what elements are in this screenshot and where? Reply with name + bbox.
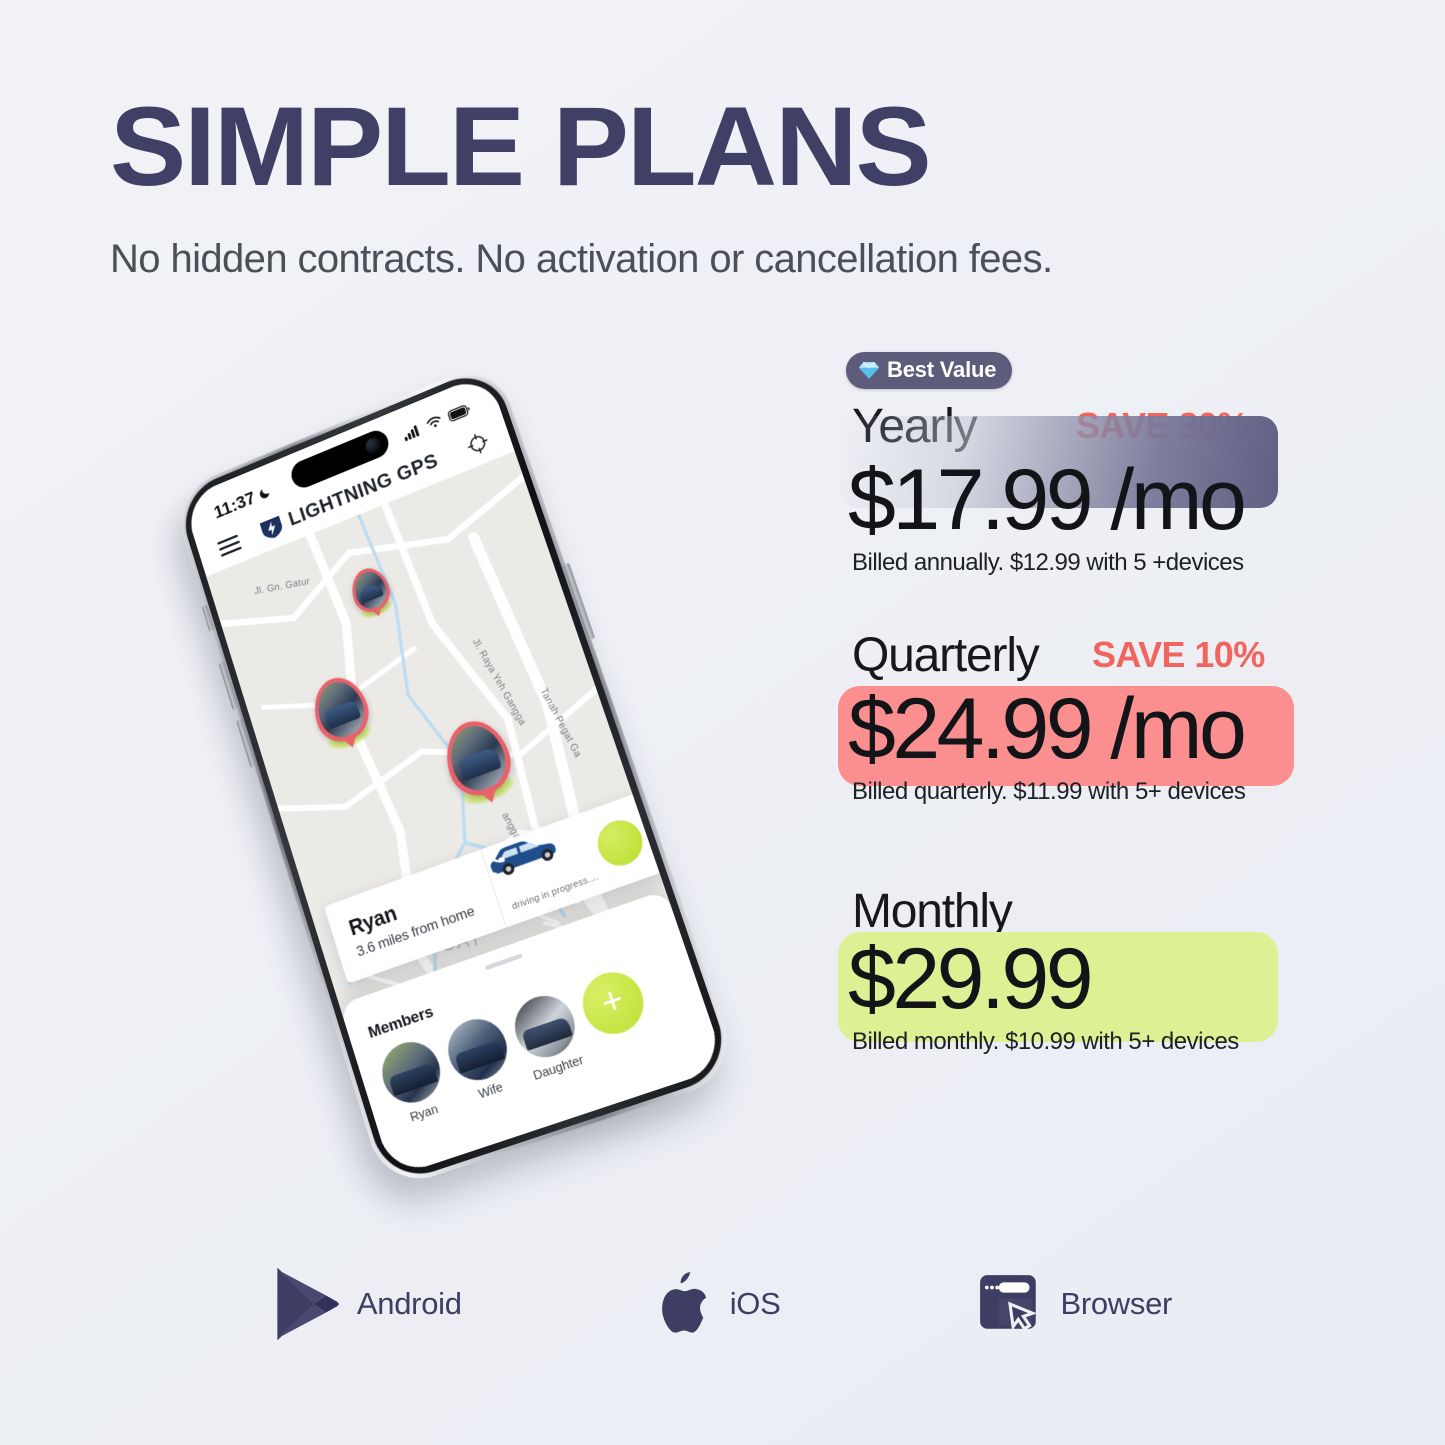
browser-window-cursor-icon: [976, 1269, 1044, 1339]
platform-label: Android: [357, 1286, 462, 1322]
member-item[interactable]: Wife: [440, 1011, 521, 1107]
plan-name: Quarterly: [852, 628, 1039, 683]
plan-price: $29.99: [848, 936, 1316, 1024]
map-street-label: Tanah Pegat Ga: [538, 686, 584, 760]
page-subtitle: No hidden contracts. No activation or ca…: [110, 237, 1053, 282]
plan-header-monthly: Monthly: [846, 884, 1316, 936]
map-area-label: AH PEGAT: [375, 926, 485, 968]
battery-full-icon: [447, 402, 472, 422]
avatar: [507, 988, 583, 1066]
plan-note: Billed annually. $12.99 with 5 +devices: [852, 545, 1316, 577]
driver-card-right: driving in progress....: [480, 792, 664, 927]
pin-vehicle-photo: [443, 718, 513, 798]
plan-card-quarterly[interactable]: Quarterly SAVE 10% $24.99 /mo Billed qua…: [846, 628, 1316, 874]
sheet-grabber[interactable]: [485, 953, 523, 970]
google-play-icon: [273, 1268, 341, 1340]
map-street-label: angga: [500, 810, 524, 842]
pin-bubble: [437, 712, 519, 805]
crescent-moon-icon: [256, 484, 273, 502]
diamond-icon: [858, 361, 880, 380]
cellular-bars-icon: [402, 422, 423, 441]
phone-device: 11:37: [170, 358, 741, 1192]
add-member-item[interactable]: +: [575, 964, 652, 1042]
driver-name: Ryan: [346, 868, 494, 942]
plan-price: $17.99 /mo: [848, 457, 1316, 545]
best-value-badge: Best Value: [846, 352, 1012, 389]
platform-availability: Android iOS Browser: [0, 1268, 1445, 1340]
phone-call-icon: [481, 842, 508, 871]
front-camera: [364, 435, 383, 455]
plus-icon: +: [602, 998, 622, 1005]
plan-price: $24.99 /mo: [848, 686, 1316, 774]
page-title: SIMPLE PLANS: [110, 95, 930, 198]
member-item[interactable]: Ryan: [375, 1034, 454, 1130]
apple-icon: [658, 1269, 714, 1339]
plan-note: Billed quarterly. $11.99 with 5+ devices: [852, 774, 1316, 806]
member-item[interactable]: Daughter: [507, 988, 589, 1085]
member-name: Wife: [461, 1074, 522, 1107]
platform-label: iOS: [730, 1286, 781, 1322]
platform-browser[interactable]: Browser: [976, 1269, 1172, 1339]
avatar: [375, 1034, 448, 1111]
best-value-label: Best Value: [887, 357, 996, 383]
plan-header-quarterly: Quarterly SAVE 10%: [846, 628, 1316, 686]
add-member-button[interactable]: +: [575, 964, 652, 1042]
map-pin-vehicle-active[interactable]: [437, 712, 519, 805]
platform-android[interactable]: Android: [273, 1268, 462, 1340]
poster-canvas: SIMPLE PLANS No hidden contracts. No act…: [0, 0, 1445, 1445]
call-driver-button[interactable]: [592, 814, 649, 872]
blue-car-icon: [481, 822, 570, 887]
member-name: Daughter: [528, 1051, 589, 1084]
map-street-label: Jl. Raya Yeh Gangga: [470, 636, 529, 727]
plan-note: Billed monthly. $10.99 with 5+ devices: [852, 1024, 1316, 1056]
plan-save-badge: SAVE 10%: [1092, 634, 1265, 676]
platform-ios[interactable]: iOS: [658, 1269, 781, 1339]
member-name: Ryan: [394, 1097, 454, 1130]
lightning-shield-icon: [258, 513, 287, 542]
plan-card-yearly[interactable]: Best Value Yearly SAVE 30% $17.99 /mo Bi…: [846, 352, 1316, 618]
platform-label: Browser: [1060, 1286, 1172, 1322]
plan-card-monthly[interactable]: Monthly $29.99 Billed monthly. $10.99 wi…: [846, 884, 1316, 1114]
wifi-icon: [424, 413, 444, 432]
phone-mockup: 11:37: [150, 355, 770, 1215]
pricing-list: Best Value Yearly SAVE 30% $17.99 /mo Bi…: [846, 352, 1316, 1124]
members-title: Members: [366, 924, 661, 1043]
avatar: [440, 1011, 514, 1088]
